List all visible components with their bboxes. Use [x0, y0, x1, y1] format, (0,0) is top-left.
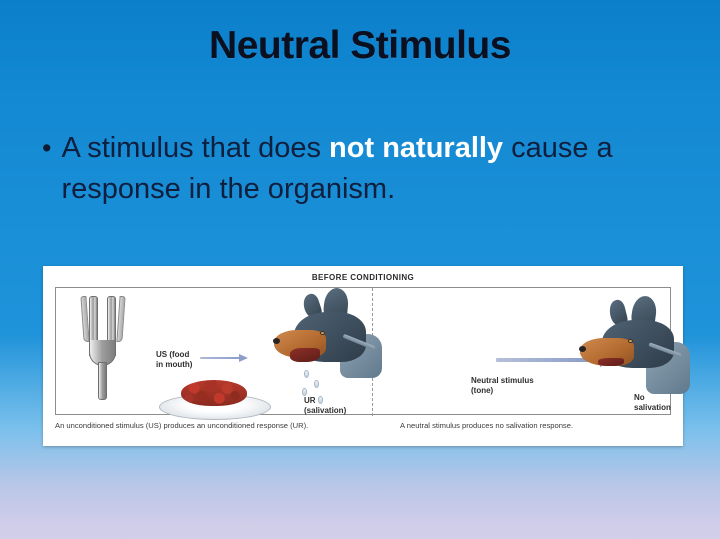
neutral-stimulus-label: Neutral stimulus (tone) [471, 376, 534, 396]
bullet-text: A stimulus that does not naturally cause… [61, 128, 641, 210]
tuning-fork-icon [80, 296, 126, 400]
dog-salivating-icon [268, 282, 384, 398]
figure-inner-box: US (food in mouth) [55, 287, 671, 415]
saliva-drip-icon [304, 370, 309, 378]
no-salivation-label: No salivation [634, 393, 671, 413]
us-arrow-icon [200, 354, 248, 362]
page-title: Neutral Stimulus [0, 24, 720, 68]
right-panel-caption: A neutral stimulus produces no salivatio… [400, 421, 573, 430]
figure-panel: BEFORE CONDITIONING US (food in mouth) [43, 266, 683, 446]
slide-canvas: Neutral Stimulus • A stimulus that does … [0, 0, 720, 539]
ur-response-label: UR (salivation) [304, 396, 346, 416]
list-item: • A stimulus that does not naturally cau… [42, 128, 682, 210]
bullet-list: • A stimulus that does not naturally cau… [42, 128, 682, 210]
saliva-drip-icon [314, 380, 319, 388]
bullet-marker-icon: • [42, 128, 51, 168]
saliva-drip-icon [302, 388, 307, 396]
bullet-text-before: A stimulus that does [61, 132, 329, 164]
us-stimulus-label: US (food in mouth) [156, 350, 192, 370]
left-panel-caption: An unconditioned stimulus (US) produces … [55, 421, 308, 430]
figure-heading: BEFORE CONDITIONING [43, 273, 683, 282]
bullet-text-highlight: not naturally [329, 132, 503, 164]
food-bowl-icon [159, 380, 269, 418]
